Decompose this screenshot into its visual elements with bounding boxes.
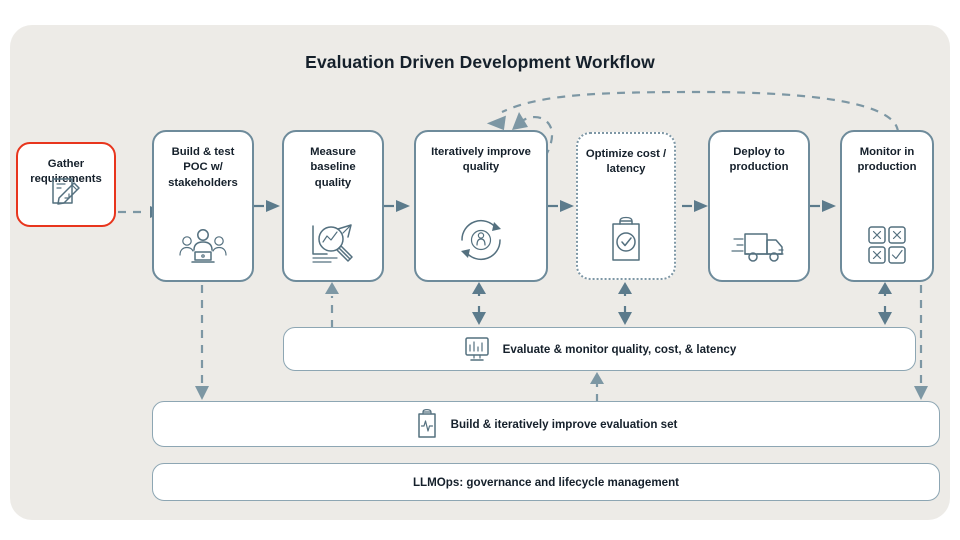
bar-llmops[interactable]: LLMOps: governance and lifecycle managem… — [152, 463, 940, 501]
bar-build-eval-set[interactable]: Build & iteratively improve evaluation s… — [152, 401, 940, 447]
stage-gather-requirements[interactable]: Gather requirements — [16, 142, 116, 227]
people-laptop-icon — [154, 226, 252, 266]
stage-label: Measure baseline quality — [284, 145, 382, 191]
stage-iteratively-improve[interactable]: Iteratively improve quality — [414, 130, 548, 282]
stage-monitor-production[interactable]: Monitor in production — [840, 130, 934, 282]
checklist-grid-icon — [842, 222, 932, 266]
monitor-chart-icon — [463, 335, 491, 363]
stage-label: Monitor in production — [842, 145, 932, 176]
stage-label: Deploy to production — [710, 145, 808, 176]
refresh-cycle-icon — [416, 214, 546, 266]
delivery-truck-icon — [710, 226, 808, 266]
stage-label: Build & test POC w/ stakeholders — [154, 145, 252, 191]
stage-optimize-cost-latency[interactable]: Optimize cost / latency — [576, 132, 676, 280]
stage-build-test-poc[interactable]: Build & test POC w/ stakeholders — [152, 130, 254, 282]
document-pencil-icon — [18, 171, 114, 211]
stage-label: Optimize cost / latency — [578, 147, 674, 178]
bar-label: LLMOps: governance and lifecycle managem… — [413, 476, 679, 489]
stage-measure-baseline[interactable]: Measure baseline quality — [282, 130, 384, 282]
diagram-canvas: Evaluation Driven Development Workflow — [0, 0, 960, 540]
stage-deploy-production[interactable]: Deploy to production — [708, 130, 810, 282]
bar-evaluate-monitor[interactable]: Evaluate & monitor quality, cost, & late… — [283, 327, 916, 371]
clipboard-check-icon — [578, 216, 674, 264]
bar-label: Evaluate & monitor quality, cost, & late… — [503, 343, 737, 356]
chart-magnifier-icon — [284, 220, 382, 266]
bar-label: Build & iteratively improve evaluation s… — [451, 418, 678, 431]
stage-label: Iteratively improve quality — [416, 145, 546, 176]
clipboard-pulse-icon — [415, 409, 439, 439]
page-title: Evaluation Driven Development Workflow — [0, 52, 960, 73]
